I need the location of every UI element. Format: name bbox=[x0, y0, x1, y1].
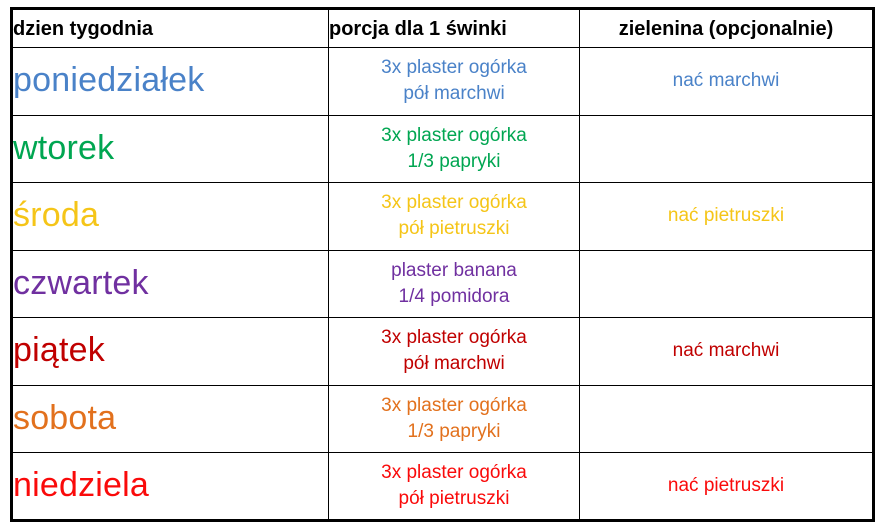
portion-line-1: 3x plaster ogórka bbox=[329, 190, 579, 216]
portion-line-2: 1/4 pomidora bbox=[329, 284, 579, 310]
feeding-schedule-table: dzien tygodnia porcja dla 1 świnki ziele… bbox=[10, 7, 875, 522]
cell-portion: 3x plaster ogórka 1/3 papryki bbox=[329, 115, 580, 183]
cell-greens bbox=[580, 115, 874, 183]
table-row: czwartek plaster banana 1/4 pomidora bbox=[12, 250, 874, 318]
column-header-portion: porcja dla 1 świnki bbox=[329, 9, 580, 48]
cell-greens bbox=[580, 385, 874, 453]
table-row: sobota 3x plaster ogórka 1/3 papryki bbox=[12, 385, 874, 453]
cell-portion: 3x plaster ogórka pół pietruszki bbox=[329, 453, 580, 521]
table-row: niedziela 3x plaster ogórka pół pietrusz… bbox=[12, 453, 874, 521]
portion-line-2: pół pietruszki bbox=[329, 486, 579, 512]
cell-portion: 3x plaster ogórka pół marchwi bbox=[329, 48, 580, 116]
portion-line-1: 3x plaster ogórka bbox=[329, 55, 579, 81]
cell-portion: 3x plaster ogórka pół pietruszki bbox=[329, 183, 580, 251]
cell-greens: nać marchwi bbox=[580, 318, 874, 386]
table-row: wtorek 3x plaster ogórka 1/3 papryki bbox=[12, 115, 874, 183]
cell-day-name: niedziela bbox=[12, 453, 329, 521]
table-body: poniedziałek 3x plaster ogórka pół march… bbox=[12, 48, 874, 521]
table-row: piątek 3x plaster ogórka pół marchwi nać… bbox=[12, 318, 874, 386]
column-header-day: dzien tygodnia bbox=[12, 9, 329, 48]
column-header-greens: zielenina (opcjonalnie) bbox=[580, 9, 874, 48]
cell-day-name: poniedziałek bbox=[12, 48, 329, 116]
portion-line-1: 3x plaster ogórka bbox=[329, 325, 579, 351]
cell-day-name: piątek bbox=[12, 318, 329, 386]
portion-line-2: pół marchwi bbox=[329, 351, 579, 377]
table-row: środa 3x plaster ogórka pół pietruszki n… bbox=[12, 183, 874, 251]
cell-day-name: wtorek bbox=[12, 115, 329, 183]
portion-line-2: 1/3 papryki bbox=[329, 149, 579, 175]
portion-line-2: 1/3 papryki bbox=[329, 419, 579, 445]
portion-line-1: plaster banana bbox=[329, 258, 579, 284]
table-header-row: dzien tygodnia porcja dla 1 świnki ziele… bbox=[12, 9, 874, 48]
portion-line-2: pół marchwi bbox=[329, 81, 579, 107]
portion-line-1: 3x plaster ogórka bbox=[329, 393, 579, 419]
cell-greens: nać pietruszki bbox=[580, 453, 874, 521]
table-row: poniedziałek 3x plaster ogórka pół march… bbox=[12, 48, 874, 116]
portion-line-1: 3x plaster ogórka bbox=[329, 460, 579, 486]
cell-greens: nać marchwi bbox=[580, 48, 874, 116]
cell-portion: plaster banana 1/4 pomidora bbox=[329, 250, 580, 318]
cell-portion: 3x plaster ogórka 1/3 papryki bbox=[329, 385, 580, 453]
cell-day-name: sobota bbox=[12, 385, 329, 453]
cell-greens: nać pietruszki bbox=[580, 183, 874, 251]
cell-day-name: czwartek bbox=[12, 250, 329, 318]
table-header: dzien tygodnia porcja dla 1 świnki ziele… bbox=[12, 9, 874, 48]
portion-line-2: pół pietruszki bbox=[329, 216, 579, 242]
portion-line-1: 3x plaster ogórka bbox=[329, 123, 579, 149]
cell-greens bbox=[580, 250, 874, 318]
feeding-schedule-table-container: dzien tygodnia porcja dla 1 świnki ziele… bbox=[10, 7, 872, 519]
cell-portion: 3x plaster ogórka pół marchwi bbox=[329, 318, 580, 386]
cell-day-name: środa bbox=[12, 183, 329, 251]
